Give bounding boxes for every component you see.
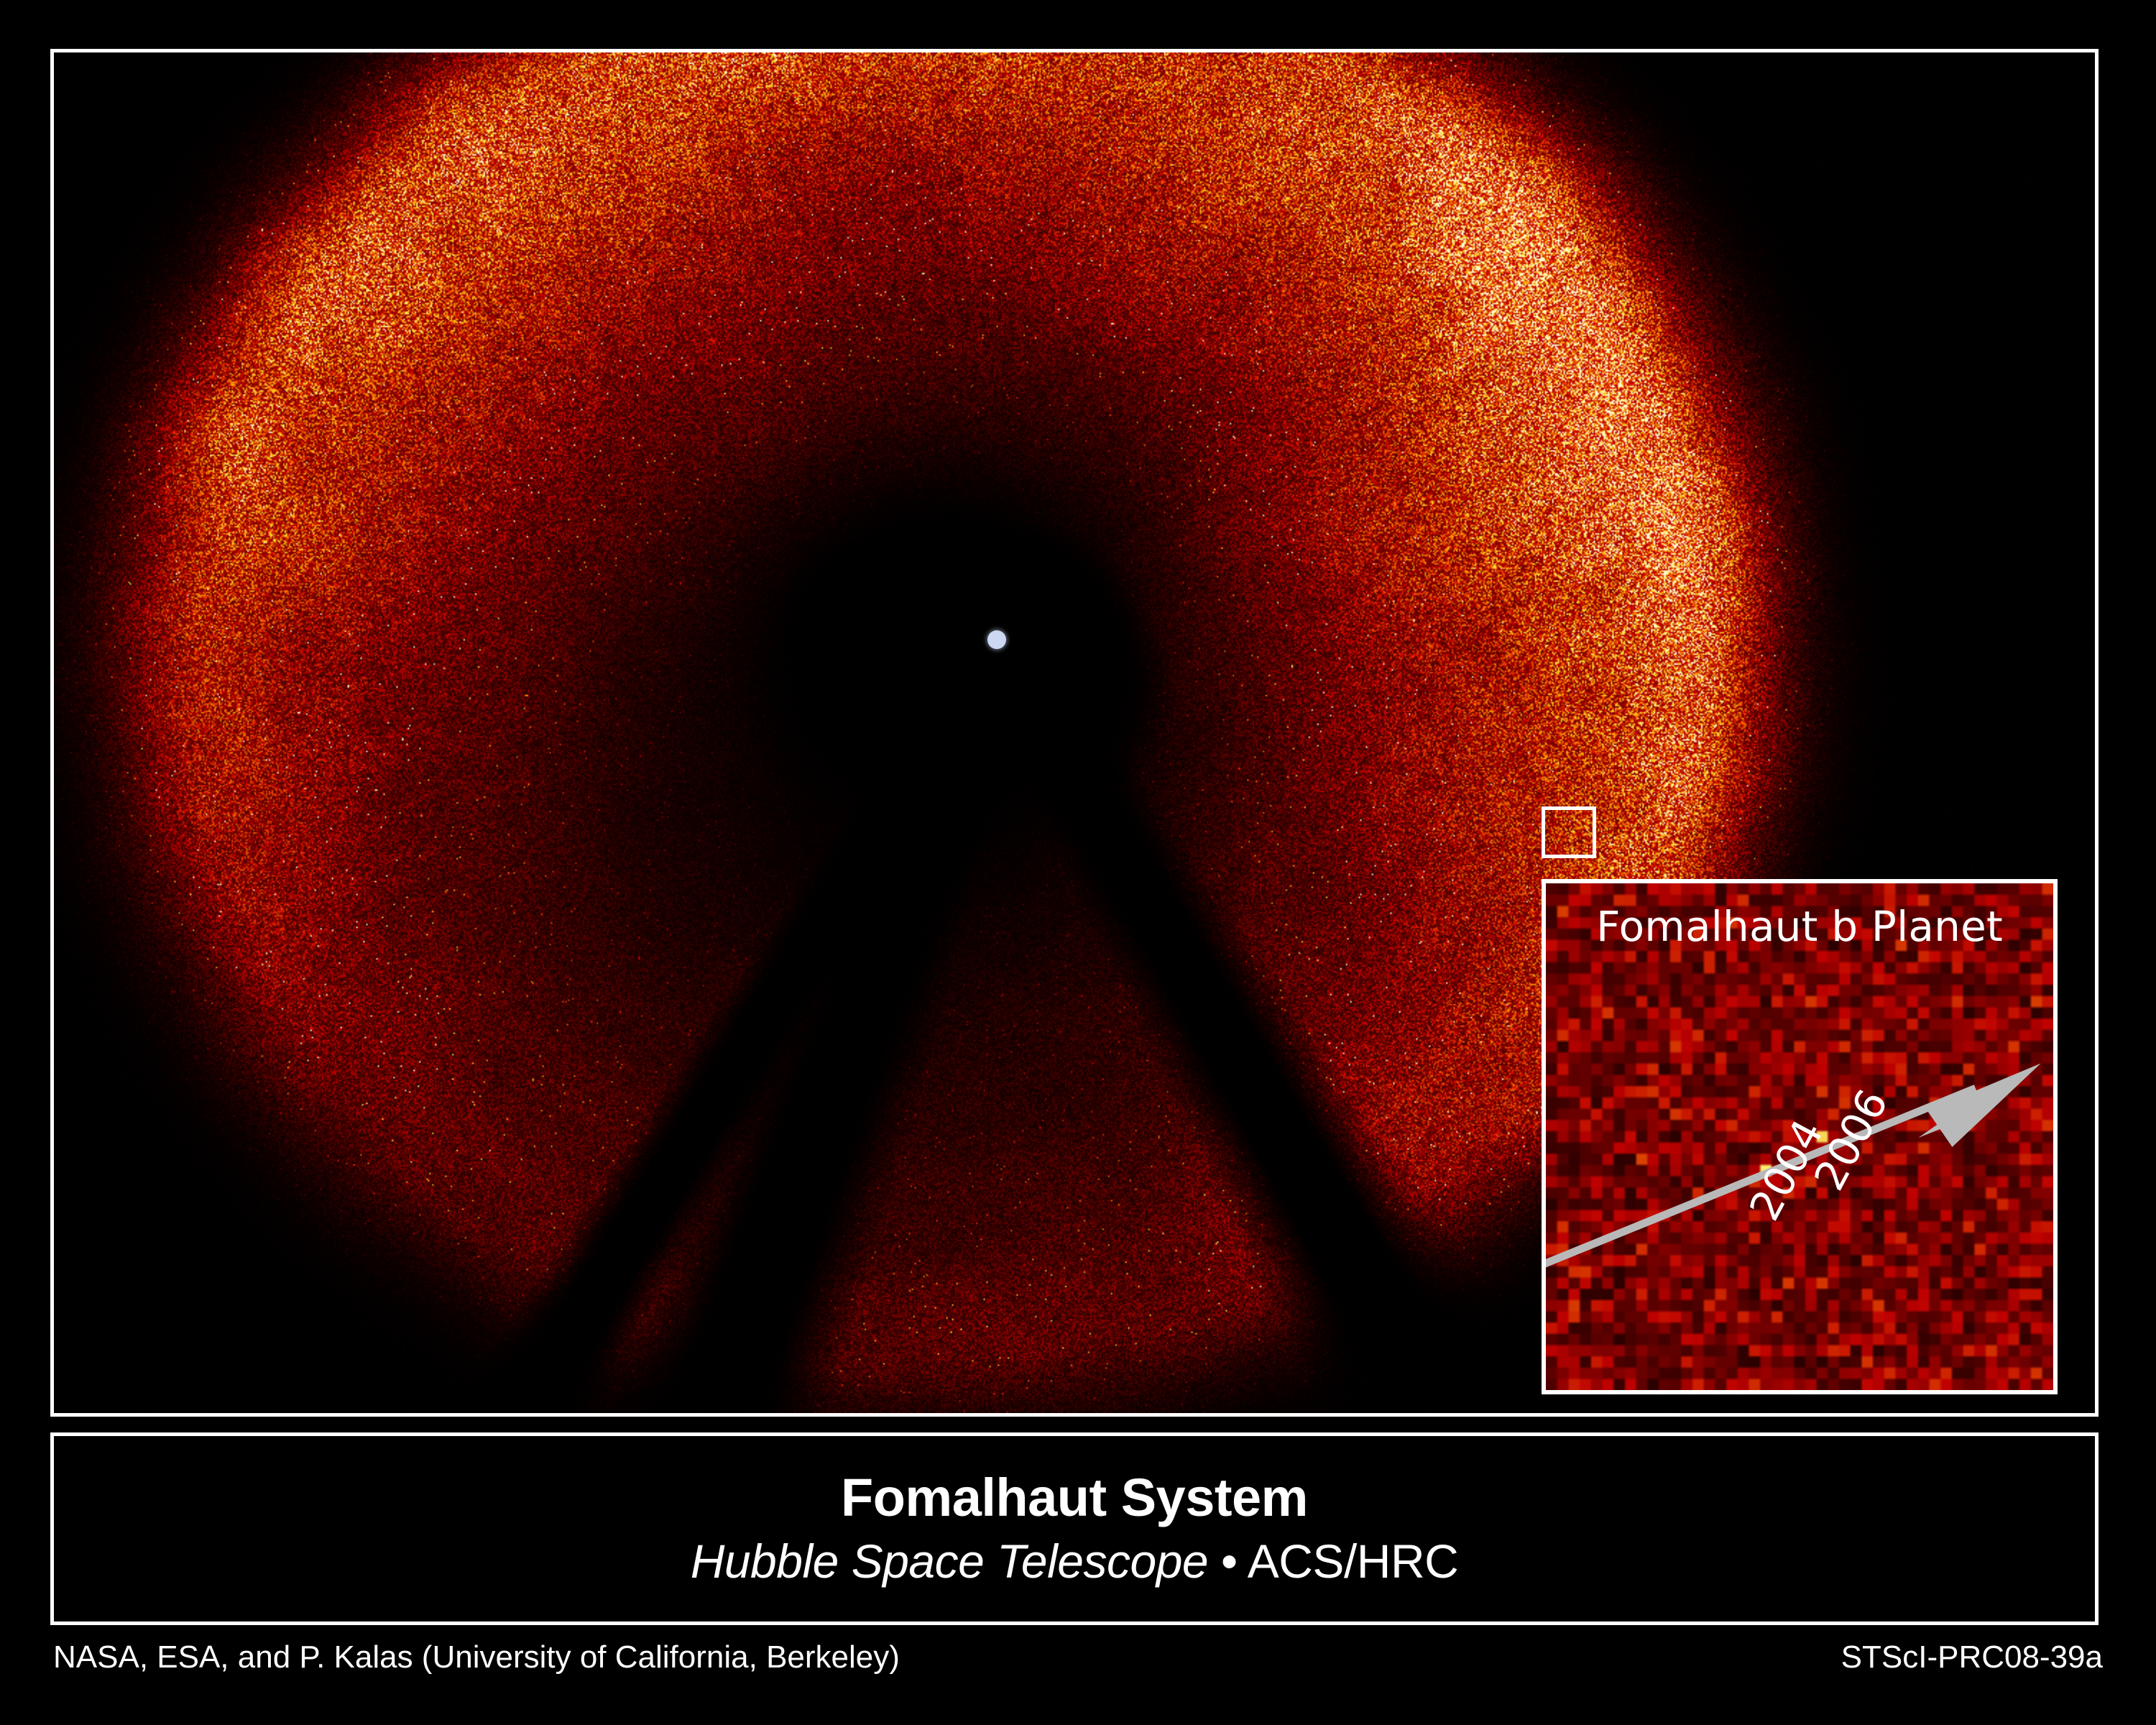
caption-subtitle-separator: • bbox=[1208, 1535, 1248, 1588]
caption-title: Fomalhaut System bbox=[841, 1469, 1308, 1527]
caption-subtitle: Hubble Space Telescope • ACS/HRC bbox=[691, 1535, 1459, 1588]
fomalhaut-b-inset: Fomalhaut b Planet 2004 2006 bbox=[1542, 879, 2058, 1394]
inset-annotation-layer bbox=[1546, 883, 2053, 1390]
orbital-motion-arrow bbox=[1546, 1064, 2040, 1265]
central-star-marker bbox=[987, 630, 1006, 649]
caption-subtitle-instrument: Hubble Space Telescope bbox=[691, 1535, 1208, 1588]
credit-line-right: STScI-PRC08-39a bbox=[1841, 1639, 2103, 1675]
main-image-frame: Fomalhaut b Planet 2004 2006 bbox=[50, 49, 2099, 1417]
screenshot-root: Fomalhaut b Planet 2004 2006 Fomalhaut S… bbox=[0, 0, 2156, 1725]
caption-box: Fomalhaut System Hubble Space Telescope … bbox=[50, 1432, 2099, 1625]
planet-locator-box bbox=[1542, 806, 1596, 858]
credit-line-left: NASA, ESA, and P. Kalas (University of C… bbox=[53, 1639, 900, 1675]
caption-subtitle-detector: ACS/HRC bbox=[1248, 1535, 1459, 1588]
